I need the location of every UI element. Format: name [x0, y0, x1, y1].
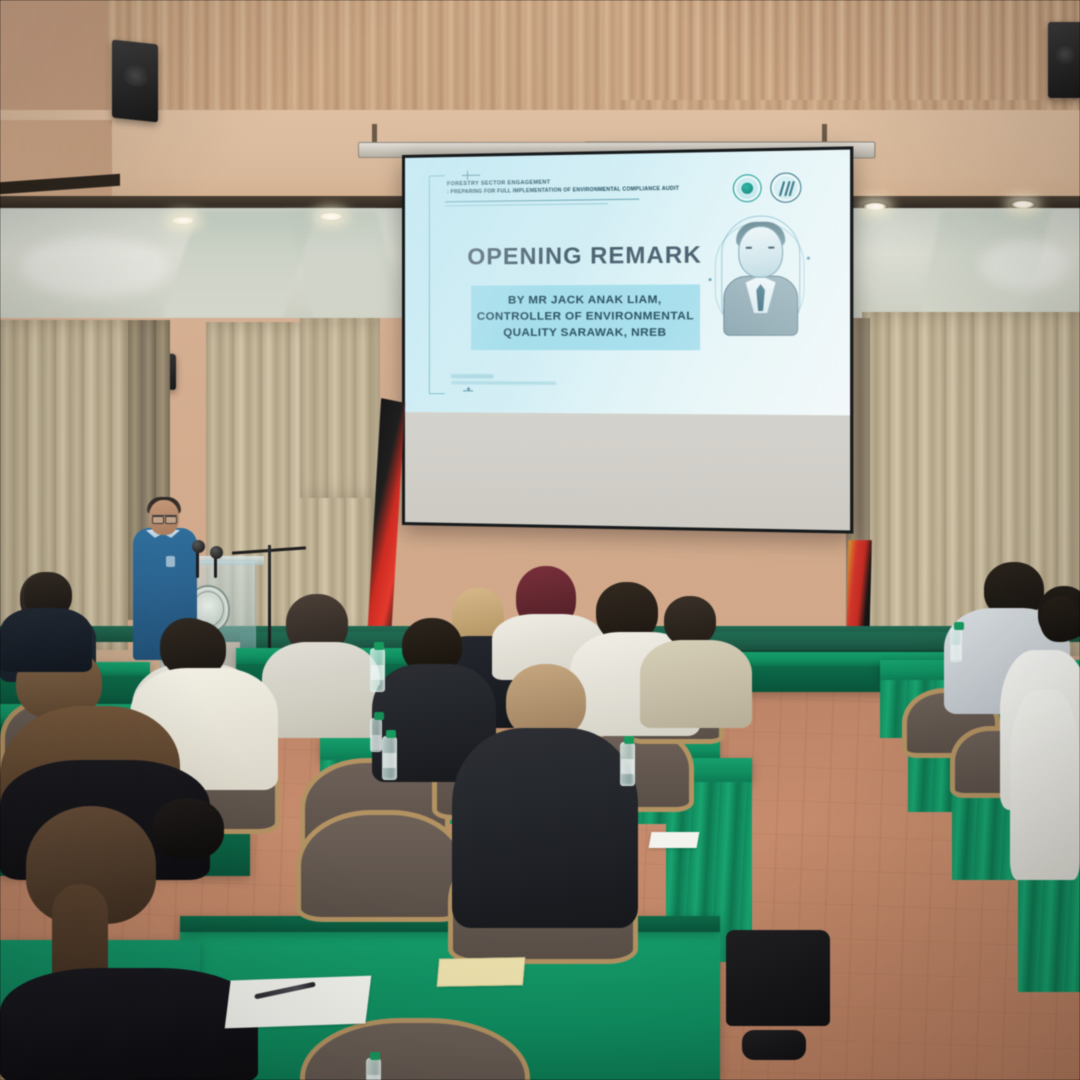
wood-slat-panel-right	[620, 0, 1080, 100]
microphone-head-1	[192, 540, 205, 553]
wall-speaker-top-left	[112, 40, 158, 123]
glass-glare-left	[20, 236, 170, 298]
projection-screen: FORESTRY SECTOR ENGAGEMENT : PREPARING F…	[402, 146, 853, 533]
chair-back-front-1	[296, 810, 466, 922]
shoe-on-floor	[742, 1030, 806, 1060]
handout-paper	[225, 976, 372, 1029]
ceiling-light-3	[1010, 200, 1036, 209]
water-bottle-1	[370, 648, 385, 692]
note-card	[437, 957, 526, 986]
presentation-slide: FORESTRY SECTOR ENGAGEMENT : PREPARING F…	[405, 150, 850, 416]
water-bottle-2	[382, 736, 397, 780]
conference-hall-photo: FORESTRY SECTOR ENGAGEMENT : PREPARING F…	[0, 0, 1080, 1080]
handout-paper-2	[649, 832, 700, 848]
backpack-on-floor	[726, 930, 830, 1026]
microphone-stem-1	[196, 552, 199, 578]
curtain-behind-screen	[300, 318, 380, 498]
slide-projection-glare	[405, 150, 850, 416]
microphone-head-2	[210, 546, 223, 559]
ceiling-light-4	[170, 216, 196, 225]
water-bottle-foreground	[366, 1058, 381, 1080]
glass-glare-right	[980, 240, 1070, 290]
ceiling-light-1	[318, 212, 344, 221]
ceiling-light-2	[862, 202, 888, 211]
wall-speaker-top-right	[1048, 22, 1080, 98]
screen-blank-area	[405, 406, 850, 530]
water-bottle-5	[370, 718, 382, 752]
water-bottle-3	[620, 742, 635, 786]
microphone-stem-2	[214, 556, 217, 578]
water-bottle-4	[950, 628, 962, 662]
